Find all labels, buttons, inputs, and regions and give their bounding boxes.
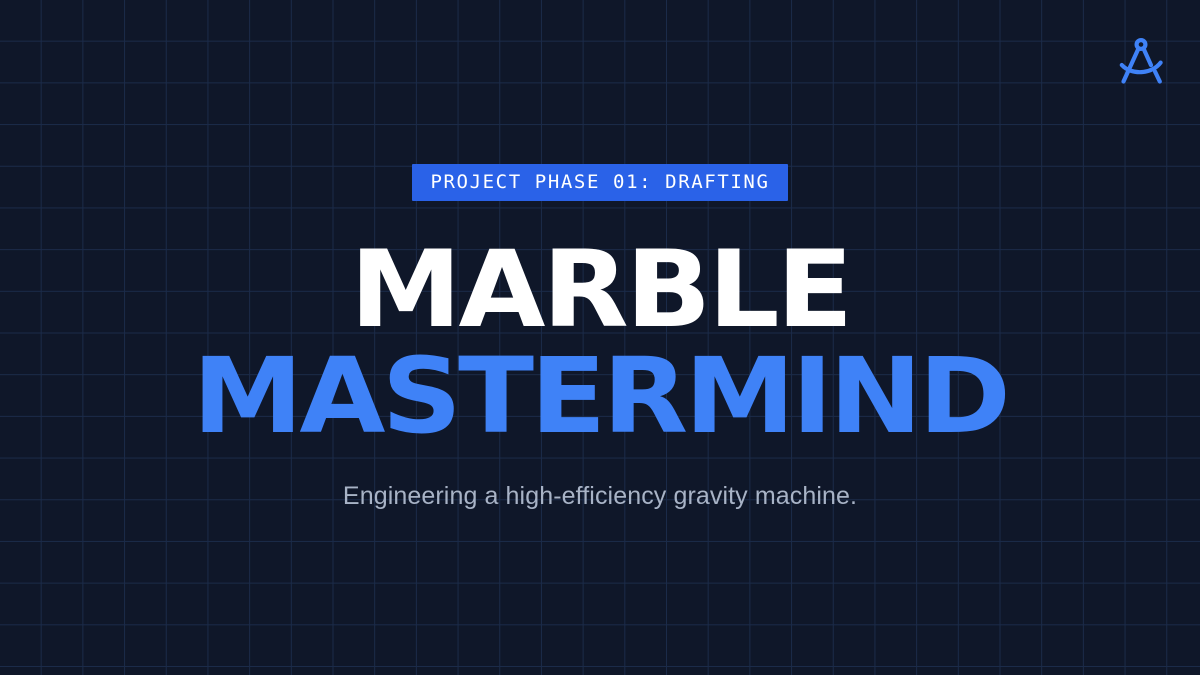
status-badge: PROJECT PHASE 01: DRAFTING <box>412 164 787 201</box>
title-slide: PROJECT PHASE 01: DRAFTING MARBLE MASTER… <box>0 0 1200 675</box>
title-line-secondary: MASTERMIND <box>193 354 1008 439</box>
subtitle-text: Engineering a high-efficiency gravity ma… <box>343 482 857 511</box>
title-line-primary: MARBLE <box>350 247 850 334</box>
slide-content: PROJECT PHASE 01: DRAFTING MARBLE MASTER… <box>0 0 1200 675</box>
